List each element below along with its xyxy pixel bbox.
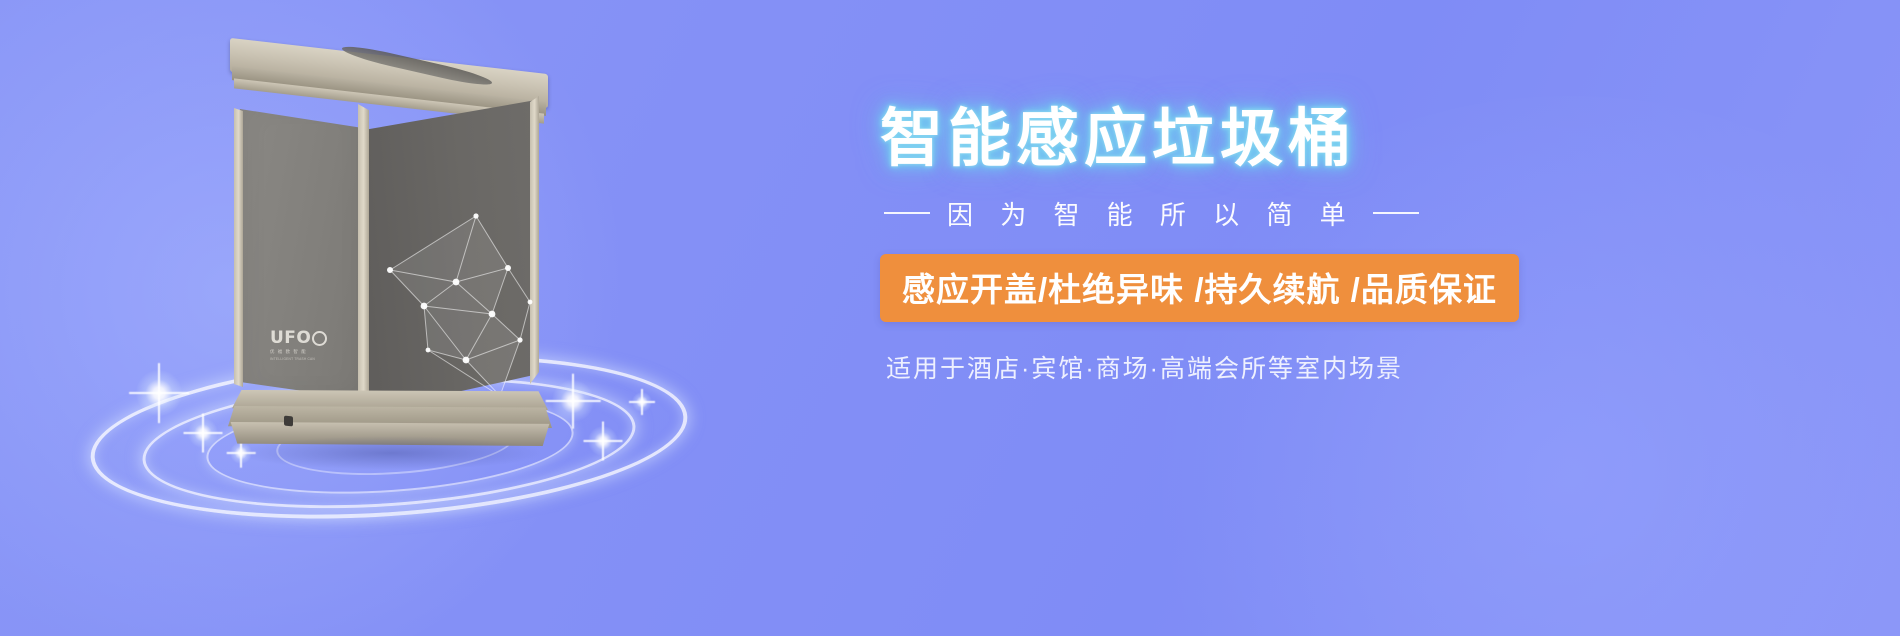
bin-drop-shadow bbox=[236, 436, 546, 470]
page-title: 智能感应垃圾桶 bbox=[880, 104, 1820, 175]
brand-wordmark: UFO bbox=[270, 330, 340, 347]
bin-edge-pillar-left bbox=[234, 102, 243, 402]
banner-copy: 智能感应垃圾桶 因 为 智 能 所 以 简 单 感应开盖/杜绝异味 /持久续航 … bbox=[880, 104, 1820, 385]
feature-tag-bar: 感应开盖/杜绝异味 /持久续航 /品质保证 bbox=[880, 254, 1519, 322]
bin-base-port-icon bbox=[284, 416, 293, 427]
brand-subtitle-cn: 优 福 欧 智 能 bbox=[270, 349, 340, 355]
product-banner: UFO 优 福 欧 智 能 INTELLIGENT TRASH CAN 智能感应… bbox=[0, 0, 1900, 636]
bin-edge-pillar-middle bbox=[358, 104, 369, 416]
product-image: UFO 优 福 欧 智 能 INTELLIGENT TRASH CAN bbox=[80, 40, 720, 520]
subtitle-text: 因 为 智 能 所 以 简 单 bbox=[947, 195, 1356, 232]
usage-caption: 适用于酒店·宾馆·商场·高端会所等室内场景 bbox=[880, 349, 1820, 385]
brand-wordmark-text: UFO bbox=[270, 330, 311, 347]
trash-bin-body: UFO 优 福 欧 智 能 INTELLIGENT TRASH CAN bbox=[230, 50, 560, 450]
brand-ring-icon bbox=[312, 331, 327, 346]
brand-logo: UFO 优 福 欧 智 能 INTELLIGENT TRASH CAN bbox=[270, 330, 340, 372]
subtitle-line: 因 为 智 能 所 以 简 单 bbox=[880, 195, 1820, 232]
subtitle-dash-right bbox=[1373, 212, 1419, 214]
polygon-network-graphic bbox=[380, 210, 536, 420]
brand-subtitle-en: INTELLIGENT TRASH CAN bbox=[270, 357, 340, 361]
subtitle-dash-left bbox=[884, 212, 930, 214]
